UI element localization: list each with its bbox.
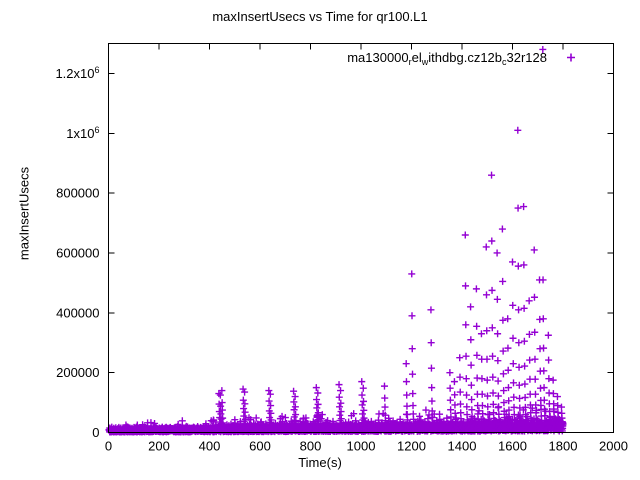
svg-text:0: 0 <box>92 425 99 440</box>
svg-text:800000: 800000 <box>56 186 99 201</box>
svg-text:400000: 400000 <box>56 305 99 320</box>
svg-text:ma130000relwithdbg.cz12bc32r12: ma130000relwithdbg.cz12bc32r128 <box>347 50 547 67</box>
svg-text:1600: 1600 <box>498 439 527 454</box>
svg-text:0: 0 <box>105 439 112 454</box>
svg-text:1800: 1800 <box>549 439 578 454</box>
gnuplot-chart: maxInsertUsecs vs Time for qr100.L1 maxI… <box>0 0 640 480</box>
scatter-points <box>106 46 567 436</box>
svg-text:1x106: 1x106 <box>66 125 99 141</box>
svg-text:600: 600 <box>249 439 271 454</box>
svg-text:400: 400 <box>199 439 221 454</box>
legend: ma130000relwithdbg.cz12bc32r128 <box>347 50 575 67</box>
svg-text:1400: 1400 <box>448 439 477 454</box>
svg-text:200: 200 <box>148 439 170 454</box>
svg-text:800: 800 <box>300 439 322 454</box>
svg-text:1000: 1000 <box>347 439 376 454</box>
y-axis-ticks: 02000004000006000008000001x1061.2x106 <box>55 65 613 440</box>
svg-text:200000: 200000 <box>56 365 99 380</box>
plot-canvas: 02000004000006000008000001x1061.2x106 02… <box>0 0 640 480</box>
svg-text:1.2x106: 1.2x106 <box>55 65 99 81</box>
svg-text:600000: 600000 <box>56 245 99 260</box>
svg-text:1200: 1200 <box>397 439 426 454</box>
plot-border <box>109 44 614 433</box>
svg-text:2000: 2000 <box>599 439 628 454</box>
